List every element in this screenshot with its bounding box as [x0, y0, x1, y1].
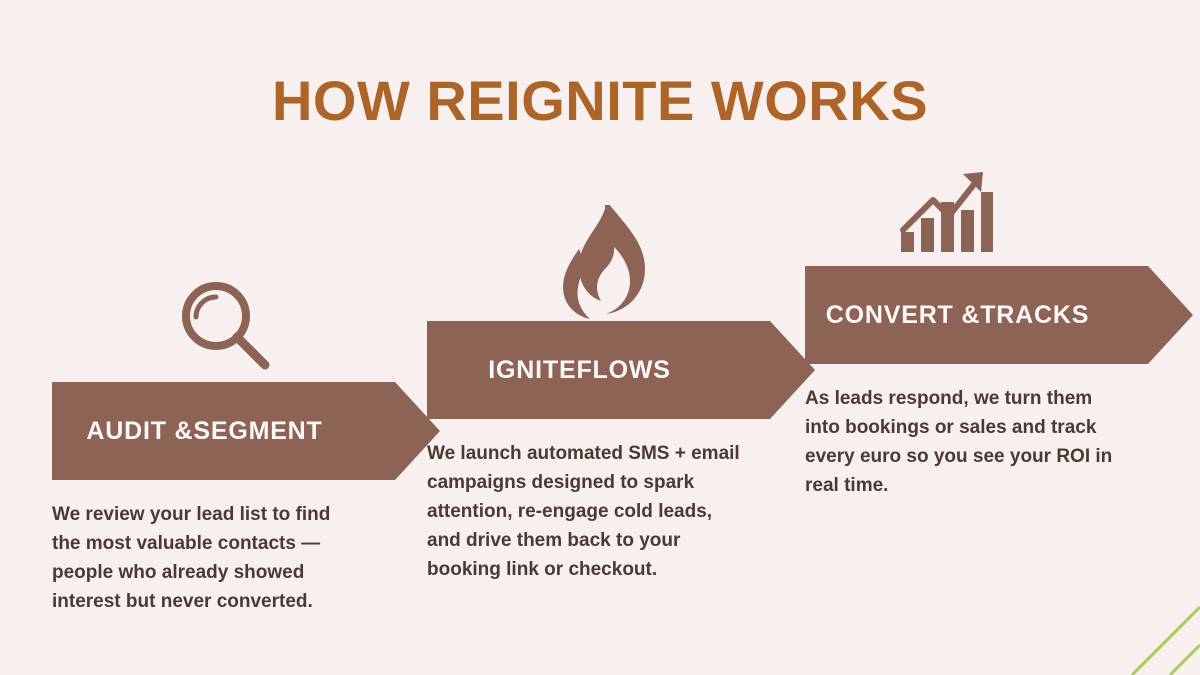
- banner-line-1: CONVERT &: [826, 299, 980, 332]
- step-description-audit-segment: We review your lead list to find the mos…: [52, 500, 362, 616]
- step-banner-ignite-flows: IGNITE FLOWS: [427, 321, 770, 419]
- growth-chart-icon: [805, 160, 1200, 266]
- step-description-ignite-flows: We launch automated SMS + email campaign…: [427, 439, 743, 584]
- step-description-convert-tracks: As leads respond, we turn them into book…: [805, 384, 1127, 500]
- magnifying-glass-icon: [52, 270, 452, 382]
- flame-icon: [427, 205, 827, 321]
- banner-line-2: SEGMENT: [193, 415, 322, 448]
- step-ignite-flows: IGNITE FLOWS We launch automated SMS + e…: [427, 205, 827, 584]
- step-audit-segment: AUDIT & SEGMENT We review your lead list…: [52, 270, 452, 616]
- step-banner-audit-segment: AUDIT & SEGMENT: [52, 382, 395, 480]
- step-convert-tracks: CONVERT & TRACKS As leads respond, we tu…: [805, 160, 1200, 500]
- corner-accent-lines: [1070, 585, 1200, 675]
- banner-line-2: TRACKS: [980, 299, 1089, 332]
- step-banner-convert-tracks: CONVERT & TRACKS: [805, 266, 1148, 364]
- page-title: HOW REIGNITE WORKS: [0, 68, 1200, 134]
- banner-line-1: AUDIT &: [86, 415, 193, 448]
- banner-line-2: FLOWS: [576, 354, 670, 387]
- slide-canvas: HOW REIGNITE WORKS AUDIT & SEGMENT We re…: [0, 0, 1200, 675]
- banner-line-1: IGNITE: [488, 354, 576, 387]
